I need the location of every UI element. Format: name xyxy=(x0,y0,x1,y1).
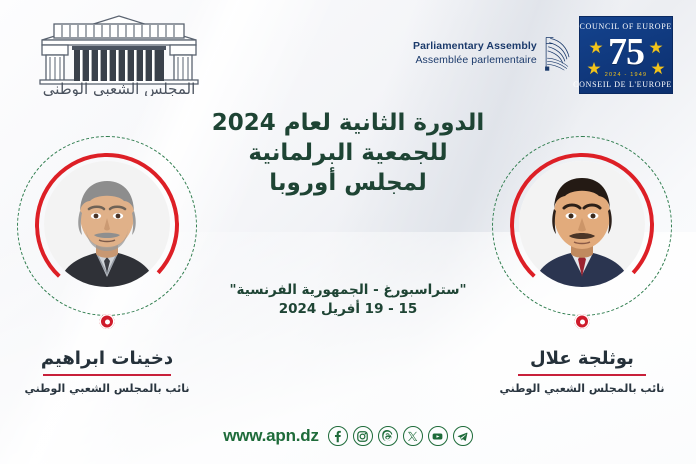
person-name-right: بوثلجة علال xyxy=(489,348,675,370)
person-role-right: نائب بالمجلس الشعبي الوطني xyxy=(489,381,675,396)
pace-logo-text: Parliamentary Assembly Assemblée parleme… xyxy=(413,39,537,67)
portrait-photo-left xyxy=(44,161,170,287)
apn-logo-caption: المجلس الشعبي الوطني xyxy=(43,80,196,96)
venue-location: "ستراسبورغ - الجمهورية الفرنسية" xyxy=(198,281,498,300)
youtube-glyph xyxy=(431,430,444,443)
person-card-right: بوثلجة علال نائب بالمجلس الشعبي الوطني xyxy=(489,134,675,434)
event-title: الدورة الثانية لعام 2024 للجمعية البرلما… xyxy=(198,108,498,198)
x-glyph xyxy=(407,431,418,442)
coe-bottom-text: CONSEIL DE L'EUROPE xyxy=(580,80,672,89)
pace-line-en: Parliamentary Assembly xyxy=(413,39,537,53)
venue-dates: 15 - 19 أفريل 2024 xyxy=(198,300,498,319)
facebook-glyph xyxy=(331,430,344,443)
title-line-2: للجمعية البرلمانية xyxy=(198,138,498,168)
instagram-glyph xyxy=(356,430,369,443)
youtube-icon[interactable] xyxy=(428,426,448,446)
portrait-ring-left xyxy=(14,134,200,330)
telegram-glyph xyxy=(456,430,469,443)
portrait-photo-right xyxy=(519,161,645,287)
pin-marker-icon xyxy=(100,314,115,329)
portrait-ring-right xyxy=(489,134,675,330)
name-underline xyxy=(518,374,646,376)
facebook-icon[interactable] xyxy=(328,426,348,446)
x-twitter-icon[interactable] xyxy=(403,426,423,446)
social-links xyxy=(328,426,473,446)
footer-bar: www.apn.dz xyxy=(0,426,696,446)
council-of-europe-75-logo: COUNCIL OF EUROPE 75 1949 - 2024 CONSEIL… xyxy=(575,10,675,98)
title-line-3: لمجلس أوروبا xyxy=(198,168,498,198)
banner-canvas: المجلس الشعبي الوطني Pa xyxy=(0,0,696,464)
portrait-dekhinet-ibrahim xyxy=(44,161,170,287)
title-line-1: الدورة الثانية لعام 2024 xyxy=(198,108,498,138)
telegram-icon[interactable] xyxy=(453,426,473,446)
coe-anniversary-number: 75 xyxy=(580,31,672,73)
website-url[interactable]: www.apn.dz xyxy=(223,426,319,446)
person-name-left: دخينات ابراهيم xyxy=(14,348,200,370)
pace-hemicycle-icon xyxy=(543,20,573,86)
instagram-icon[interactable] xyxy=(353,426,373,446)
event-venue: "ستراسبورغ - الجمهورية الفرنسية" 15 - 19… xyxy=(198,281,498,319)
coe-years: 1949 - 2024 xyxy=(580,72,672,78)
person-role-left: نائب بالمجلس الشعبي الوطني xyxy=(14,381,200,396)
coe-card: COUNCIL OF EUROPE 75 1949 - 2024 CONSEIL… xyxy=(579,16,673,94)
portrait-bouthelja-allal xyxy=(519,161,645,287)
pin-marker-core xyxy=(580,319,585,324)
pin-marker-core xyxy=(105,319,110,324)
person-card-left: دخينات ابراهيم نائب بالمجلس الشعبي الوطن… xyxy=(14,134,200,434)
threads-glyph xyxy=(381,430,394,443)
parliamentary-assembly-logo: Parliamentary Assembly Assemblée parleme… xyxy=(413,14,573,92)
pin-marker-icon xyxy=(575,314,590,329)
apn-logo-graphic: المجلس الشعبي الوطني xyxy=(24,8,214,96)
pace-line-fr: Assemblée parlementaire xyxy=(413,53,537,67)
apn-logo: المجلس الشعبي الوطني xyxy=(24,8,214,96)
threads-icon[interactable] xyxy=(378,426,398,446)
name-underline xyxy=(43,374,171,376)
